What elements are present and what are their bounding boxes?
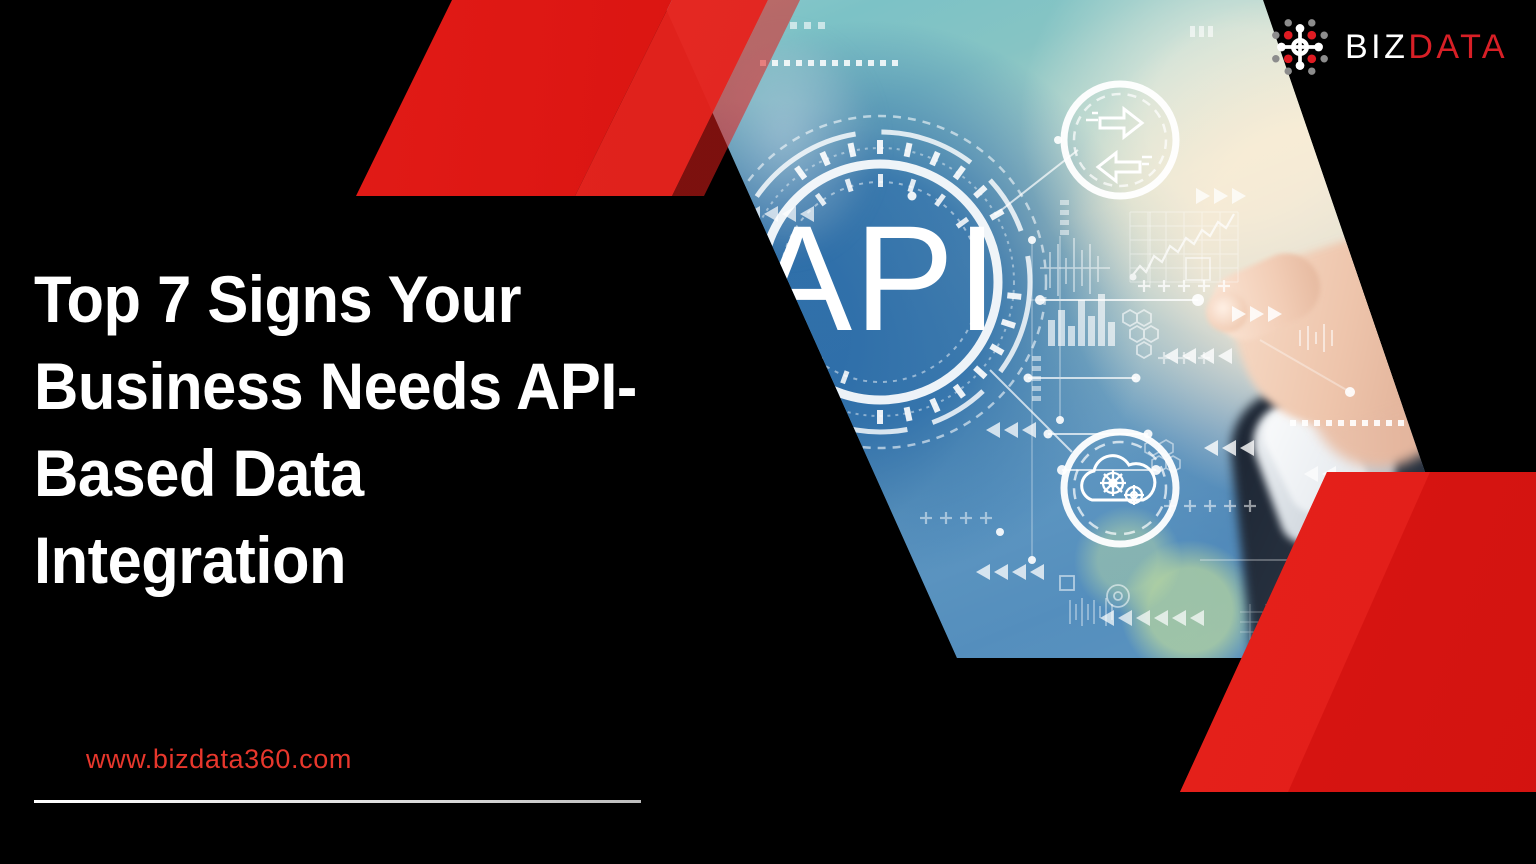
network-hub-icon	[1269, 16, 1331, 78]
logo-wordmark: BIZDATA	[1345, 30, 1508, 64]
bizdata-logo[interactable]: BIZDATA	[1269, 16, 1508, 78]
blog-banner: API	[0, 0, 1536, 864]
logo-word-data: DATA	[1408, 28, 1508, 66]
logo-word-biz: BIZ	[1345, 28, 1408, 66]
blurred-fingertip	[1206, 292, 1248, 332]
page-title: Top 7 Signs Your Business Needs API-Base…	[34, 256, 648, 604]
website-url[interactable]: www.bizdata360.com	[86, 744, 352, 775]
divider-rule	[34, 800, 641, 803]
